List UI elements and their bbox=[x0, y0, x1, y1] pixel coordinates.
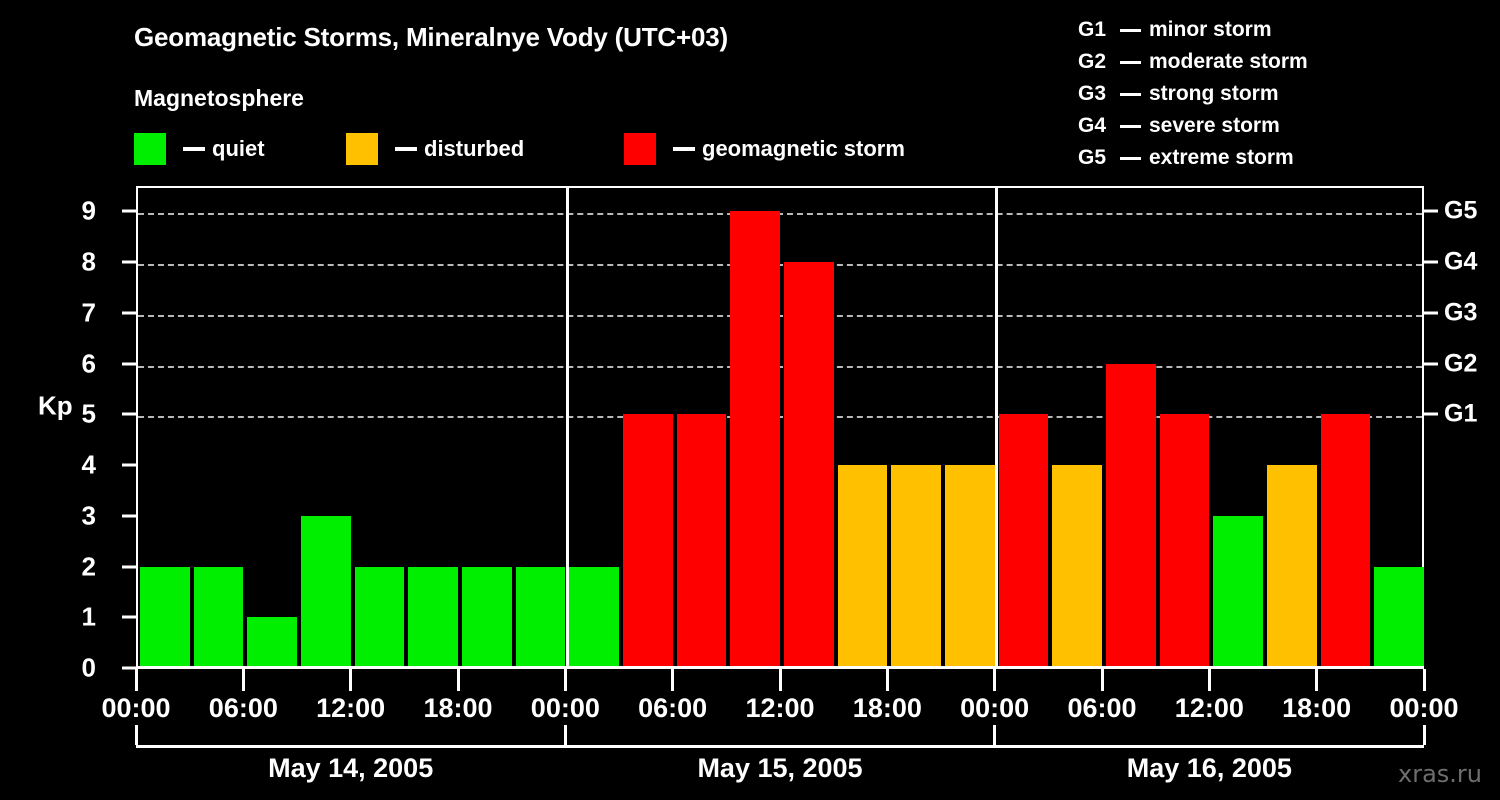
g-legend-text: moderate storm bbox=[1149, 50, 1308, 74]
legend-label-quiet: quiet bbox=[212, 138, 265, 160]
bar bbox=[623, 414, 673, 668]
bar bbox=[891, 465, 941, 668]
g-axis-tick-label: G4 bbox=[1444, 248, 1477, 277]
y-tick-label: 1 bbox=[32, 602, 96, 633]
bar bbox=[569, 567, 619, 668]
g-scale-legend: G1minor stormG2moderate stormG3strong st… bbox=[1078, 14, 1308, 174]
x-tick-mark bbox=[671, 669, 674, 691]
legend-dash-icon bbox=[183, 147, 205, 151]
bar bbox=[1374, 567, 1424, 668]
x-tick-mark bbox=[886, 669, 889, 691]
g-axis-tick-mark bbox=[1424, 311, 1438, 314]
g-axis-tick-label: G5 bbox=[1444, 197, 1477, 226]
gridline-kp-5 bbox=[138, 416, 1422, 418]
g-legend-row-g4: G4severe storm bbox=[1078, 110, 1308, 142]
y-tick-label: 6 bbox=[32, 348, 96, 379]
y-tick-label: 9 bbox=[32, 196, 96, 227]
y-tick-mark bbox=[122, 616, 136, 619]
y-tick-mark bbox=[122, 565, 136, 568]
x-tick-mark bbox=[135, 669, 138, 691]
g-legend-text: strong storm bbox=[1149, 82, 1279, 106]
g-axis-tick-mark bbox=[1424, 362, 1438, 365]
g-legend-text: minor storm bbox=[1149, 18, 1272, 42]
g-legend-row-g1: G1minor storm bbox=[1078, 14, 1308, 46]
y-tick-label: 2 bbox=[32, 551, 96, 582]
day-label: May 15, 2005 bbox=[697, 753, 862, 784]
x-tick-label: 12:00 bbox=[745, 693, 814, 724]
em-dash-icon bbox=[1120, 61, 1141, 64]
em-dash-icon bbox=[1120, 93, 1141, 96]
g-legend-code: G1 bbox=[1078, 18, 1112, 42]
bar bbox=[408, 567, 458, 668]
geomagnetic-storm-chart: Geomagnetic Storms, Mineralnye Vody (UTC… bbox=[0, 0, 1500, 800]
legend-item-geomagnetic-storm: geomagnetic storm bbox=[624, 133, 905, 165]
g-axis-tick-mark bbox=[1424, 413, 1438, 416]
magnetosphere-heading: Magnetosphere bbox=[134, 85, 304, 112]
g-axis-tick-label: G2 bbox=[1444, 349, 1477, 378]
bar bbox=[730, 211, 780, 668]
x-tick-label: 00:00 bbox=[960, 693, 1029, 724]
day-bracket-tick bbox=[564, 725, 567, 745]
bar bbox=[140, 567, 190, 668]
em-dash-icon bbox=[1120, 29, 1141, 32]
bar bbox=[462, 567, 512, 668]
x-tick-mark bbox=[993, 669, 996, 691]
x-tick-mark bbox=[242, 669, 245, 691]
y-tick-mark bbox=[122, 464, 136, 467]
g-legend-code: G4 bbox=[1078, 114, 1112, 138]
y-tick-label: 3 bbox=[32, 500, 96, 531]
g-legend-row-g2: G2moderate storm bbox=[1078, 46, 1308, 78]
x-tick-label: 00:00 bbox=[1389, 693, 1458, 724]
g-legend-row-g3: G3strong storm bbox=[1078, 78, 1308, 110]
y-tick-mark bbox=[122, 514, 136, 517]
x-tick-label: 18:00 bbox=[423, 693, 492, 724]
bar bbox=[945, 465, 995, 668]
bar bbox=[999, 414, 1049, 668]
g-legend-row-g5: G5extreme storm bbox=[1078, 142, 1308, 174]
plot-area bbox=[136, 186, 1424, 668]
x-tick-mark bbox=[1423, 669, 1426, 691]
legend-label-geomagnetic-storm: geomagnetic storm bbox=[702, 138, 905, 160]
day-bracket-tick bbox=[1423, 725, 1426, 745]
x-tick-label: 00:00 bbox=[531, 693, 600, 724]
bar bbox=[1052, 465, 1102, 668]
y-tick-label: 8 bbox=[32, 247, 96, 278]
page-title: Geomagnetic Storms, Mineralnye Vody (UTC… bbox=[134, 22, 728, 53]
bar bbox=[516, 567, 566, 668]
x-tick-label: 18:00 bbox=[1282, 693, 1351, 724]
gridline-kp-7 bbox=[138, 315, 1422, 317]
bar bbox=[301, 516, 351, 668]
g-legend-text: extreme storm bbox=[1149, 146, 1294, 170]
day-separator bbox=[566, 188, 569, 668]
bar bbox=[1213, 516, 1263, 668]
x-tick-label: 06:00 bbox=[1067, 693, 1136, 724]
x-tick-mark bbox=[1315, 669, 1318, 691]
y-tick-label: 4 bbox=[32, 450, 96, 481]
x-tick-mark bbox=[457, 669, 460, 691]
y-tick-mark bbox=[122, 362, 136, 365]
x-tick-label: 00:00 bbox=[101, 693, 170, 724]
bar bbox=[1106, 364, 1156, 668]
day-bracket-rule bbox=[136, 745, 1424, 748]
legend-swatch-disturbed bbox=[346, 133, 378, 165]
g-axis-tick-mark bbox=[1424, 210, 1438, 213]
g-legend-code: G3 bbox=[1078, 82, 1112, 106]
bar bbox=[677, 414, 727, 668]
x-tick-label: 12:00 bbox=[316, 693, 385, 724]
bar bbox=[838, 465, 888, 668]
bar bbox=[1160, 414, 1210, 668]
bar bbox=[194, 567, 244, 668]
em-dash-icon bbox=[1120, 125, 1141, 128]
day-label: May 14, 2005 bbox=[268, 753, 433, 784]
x-tick-label: 18:00 bbox=[853, 693, 922, 724]
x-tick-mark bbox=[1101, 669, 1104, 691]
gridline-kp-8 bbox=[138, 264, 1422, 266]
bar bbox=[784, 262, 834, 668]
legend-item-quiet: quiet bbox=[134, 133, 265, 165]
day-label: May 16, 2005 bbox=[1127, 753, 1292, 784]
gridline-kp-6 bbox=[138, 366, 1422, 368]
y-tick-mark bbox=[122, 311, 136, 314]
bar bbox=[355, 567, 405, 668]
x-tick-mark bbox=[779, 669, 782, 691]
legend-item-disturbed: disturbed bbox=[346, 133, 524, 165]
em-dash-icon bbox=[1120, 157, 1141, 160]
x-tick-mark bbox=[1208, 669, 1211, 691]
legend-swatch-quiet bbox=[134, 133, 166, 165]
y-tick-mark bbox=[122, 210, 136, 213]
day-bracket-tick bbox=[135, 725, 138, 745]
bar bbox=[247, 617, 297, 668]
g-axis-tick-label: G3 bbox=[1444, 298, 1477, 327]
x-tick-label: 06:00 bbox=[638, 693, 707, 724]
y-tick-mark bbox=[122, 261, 136, 264]
g-axis-tick-label: G1 bbox=[1444, 400, 1477, 429]
watermark: xras.ru bbox=[1398, 760, 1482, 788]
y-axis-title: Kp bbox=[38, 391, 73, 422]
plot-inner bbox=[138, 188, 1422, 668]
y-tick-mark bbox=[122, 413, 136, 416]
g-legend-code: G2 bbox=[1078, 50, 1112, 74]
day-separator bbox=[995, 188, 998, 668]
day-bracket-tick bbox=[993, 725, 996, 745]
g-legend-code: G5 bbox=[1078, 146, 1112, 170]
bar bbox=[1267, 465, 1317, 668]
legend-dash-icon bbox=[673, 147, 695, 151]
legend-label-disturbed: disturbed bbox=[424, 138, 524, 160]
x-tick-label: 12:00 bbox=[1175, 693, 1244, 724]
y-tick-label: 7 bbox=[32, 297, 96, 328]
legend-swatch-geomagnetic-storm bbox=[624, 133, 656, 165]
g-axis-tick-mark bbox=[1424, 261, 1438, 264]
g-legend-text: severe storm bbox=[1149, 114, 1280, 138]
bar bbox=[1321, 414, 1371, 668]
x-tick-mark bbox=[564, 669, 567, 691]
x-tick-mark bbox=[349, 669, 352, 691]
x-tick-label: 06:00 bbox=[209, 693, 278, 724]
y-tick-label: 0 bbox=[32, 653, 96, 684]
gridline-kp-9 bbox=[138, 213, 1422, 215]
legend-dash-icon bbox=[395, 147, 417, 151]
